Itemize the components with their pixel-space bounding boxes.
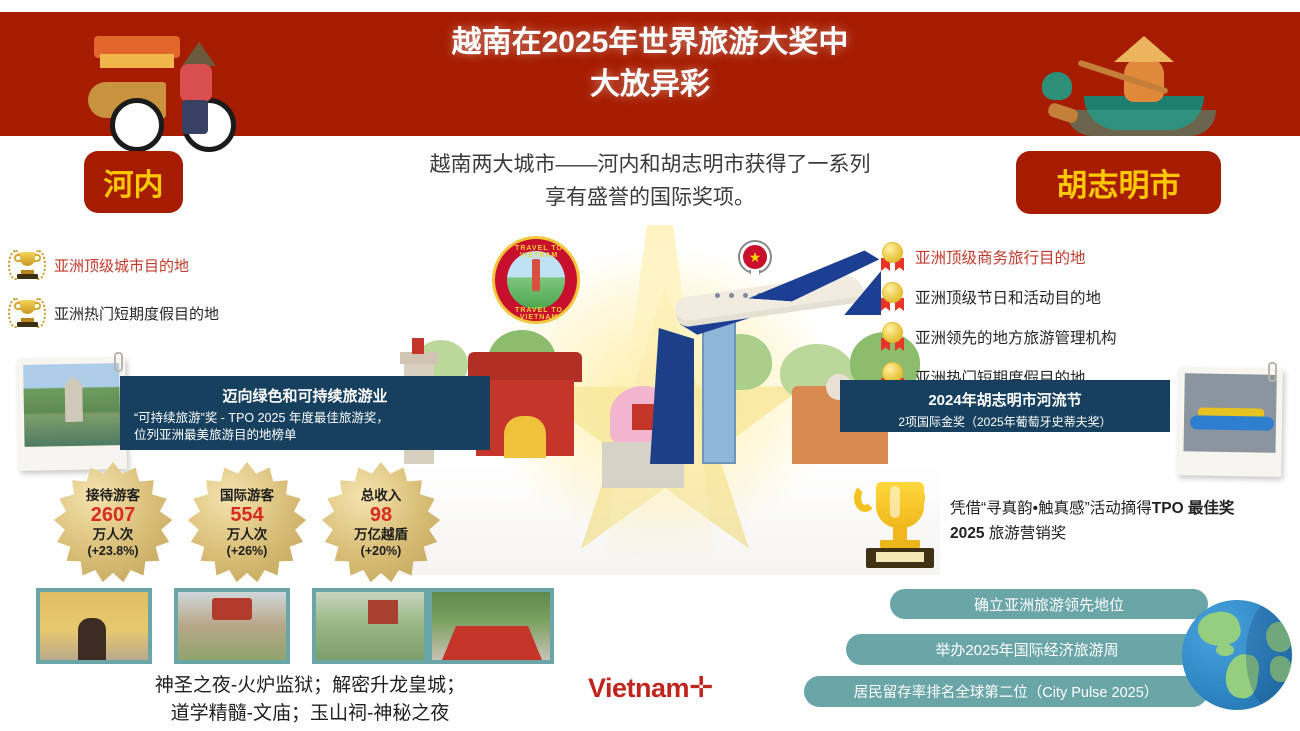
award-label: 亚洲顶级商务旅行目的地 (915, 246, 1086, 268)
stat-value: 2607 (91, 504, 136, 526)
logo-top-text: TRAVEL TO VIETNAM (495, 245, 583, 259)
ribbon-item[interactable]: 确立亚洲旅游领先地位 (890, 589, 1208, 619)
photo-river-festival-boats (1177, 367, 1283, 477)
stat-label: 国际游客 (220, 487, 274, 504)
cyclo-illustration (78, 20, 268, 138)
award-item[interactable]: 亚洲顶级城市目的地 (8, 248, 308, 282)
trophy-text-line-2-part-2: 旅游营销奖 (984, 525, 1066, 542)
award-label: 亚洲热门短期度假目的地 (54, 303, 219, 324)
subtitle: 越南两大城市——河内和胡志明市获得了一系列 享有盛誉的国际奖项。 (300, 148, 1000, 214)
banner-title: 2024年胡志明市河流节 (854, 389, 1156, 410)
ribbon-item[interactable]: 举办2025年国际经济旅游周 (846, 634, 1208, 665)
banner-sustainable-tourism: 迈向绿色和可持续旅游业 “可持续旅游”奖 - TPO 2025 年度最佳旅游奖，… (120, 376, 490, 450)
stat-unit: 万人次 (227, 526, 268, 543)
thumbnail-thang-long-citadel (174, 588, 290, 664)
trophy-text-line-1-part-2: TPO 最佳奖 (1152, 500, 1235, 517)
stat-change: (+23.8%) (87, 543, 138, 559)
stat-change: (+20%) (361, 543, 402, 559)
plus-cross-icon: ✛ (689, 672, 713, 704)
award-item[interactable]: 亚洲领先的地方旅游管理机构 (880, 322, 1280, 352)
trophy-award-text: 凭借“寻真韵•触真感”活动摘得TPO 最佳奖 2025 旅游营销奖 (950, 496, 1294, 546)
award-item[interactable]: 亚洲热门短期度假目的地 (8, 296, 308, 330)
photo-caption: 神圣之夜-火炉监狱；解密升龙皇城； 道学精髓-文庙；玉山祠-神秘之夜 (80, 672, 540, 728)
thumbnail-ngoc-son-temple (428, 588, 554, 664)
stat-value: 98 (370, 504, 392, 526)
airplane-icon (655, 255, 875, 365)
page-title-line-1: 越南在2025年世界旅游大奖中 (350, 22, 950, 64)
awards-list-left: 亚洲顶级城市目的地 亚洲热门短期度假目的地 (8, 248, 308, 344)
page-title: 越南在2025年世界旅游大奖中 大放异彩 (350, 22, 950, 106)
award-label: 亚洲领先的地方旅游管理机构 (915, 326, 1117, 348)
award-label: 亚洲顶级节日和活动目的地 (915, 286, 1101, 308)
paperclip-icon (114, 352, 123, 372)
photo-hoan-kiem-tower (17, 357, 127, 471)
thumbnail-hoa-lo-prison (36, 588, 152, 664)
award-item[interactable]: 亚洲顶级商务旅行目的地 (880, 242, 1280, 272)
banner-line-1: “可持续旅游”奖 - TPO 2025 年度最佳旅游奖， (134, 410, 476, 427)
award-item[interactable]: 亚洲顶级节日和活动目的地 (880, 282, 1280, 312)
trophy-text-line-2-part-1: 2025 (950, 525, 984, 542)
logo-bottom-text: TRAVEL TO VIETNAM (495, 307, 583, 321)
stat-unit: 万人次 (93, 526, 134, 543)
globe-icon (1182, 600, 1292, 710)
stat-badge: 接待游客 2607 万人次 (+23.8%) (52, 462, 174, 584)
trophy-laurel-icon (8, 296, 46, 330)
subtitle-line-2: 享有盛誉的国际奖项。 (300, 181, 1000, 214)
stat-value: 554 (230, 504, 263, 526)
trophy-text-line-1-part-1: 凭借“寻真韵•触真感”活动摘得 (950, 500, 1152, 517)
stat-badge: 国际游客 554 万人次 (+26%) (186, 462, 308, 584)
paperclip-icon (1268, 362, 1277, 382)
stat-unit: 万亿越盾 (354, 526, 408, 543)
trophy-icon (852, 478, 948, 574)
banner-line-2: 位列亚洲最美旅游目的地榜单 (134, 427, 476, 444)
banner-river-festival: 2024年胡志明市河流节 2项国际金奖（2025年葡萄牙史蒂夫奖） (840, 380, 1170, 432)
thumbnail-temple-of-literature (312, 588, 428, 664)
infographic-canvas: 越南在2025年世界旅游大奖中 大放异彩 越南两大城市——河内和胡志明市获得了一… (0, 0, 1300, 731)
banner-line-1: 2项国际金奖（2025年葡萄牙史蒂夫奖） (854, 414, 1156, 431)
banner-title: 迈向绿色和可持续旅游业 (134, 385, 476, 406)
page-title-line-2: 大放异彩 (350, 64, 950, 106)
award-label: 亚洲顶级城市目的地 (54, 255, 189, 276)
stat-label: 总收入 (361, 487, 402, 504)
trophy-laurel-icon (8, 248, 46, 282)
vietnamplus-logo[interactable]: Vietnam✛ (588, 670, 713, 705)
photo-caption-line-1: 神圣之夜-火炉监狱；解密升龙皇城； (80, 672, 540, 700)
ribbon-item[interactable]: 居民留存率排名全球第二位（City Pulse 2025） (804, 676, 1208, 707)
city-badge-hanoi[interactable]: 河内 (84, 151, 183, 213)
boat-rower-illustration (1030, 14, 1220, 140)
medal-icon (880, 242, 906, 272)
subtitle-line-1: 越南两大城市——河内和胡志明市获得了一系列 (300, 148, 1000, 181)
stat-change: (+26%) (227, 543, 268, 559)
stat-label: 接待游客 (86, 487, 140, 504)
photo-caption-line-2: 道学精髓-文庙；玉山祠-神秘之夜 (80, 700, 540, 728)
medal-icon (880, 322, 906, 352)
logo-text: Vietnam (588, 673, 689, 703)
travel-to-vietnam-logo-icon: TRAVEL TO VIETNAM TRAVEL TO VIETNAM (492, 236, 580, 324)
city-badge-hcmc[interactable]: 胡志明市 (1016, 151, 1221, 214)
medal-icon (880, 282, 906, 312)
